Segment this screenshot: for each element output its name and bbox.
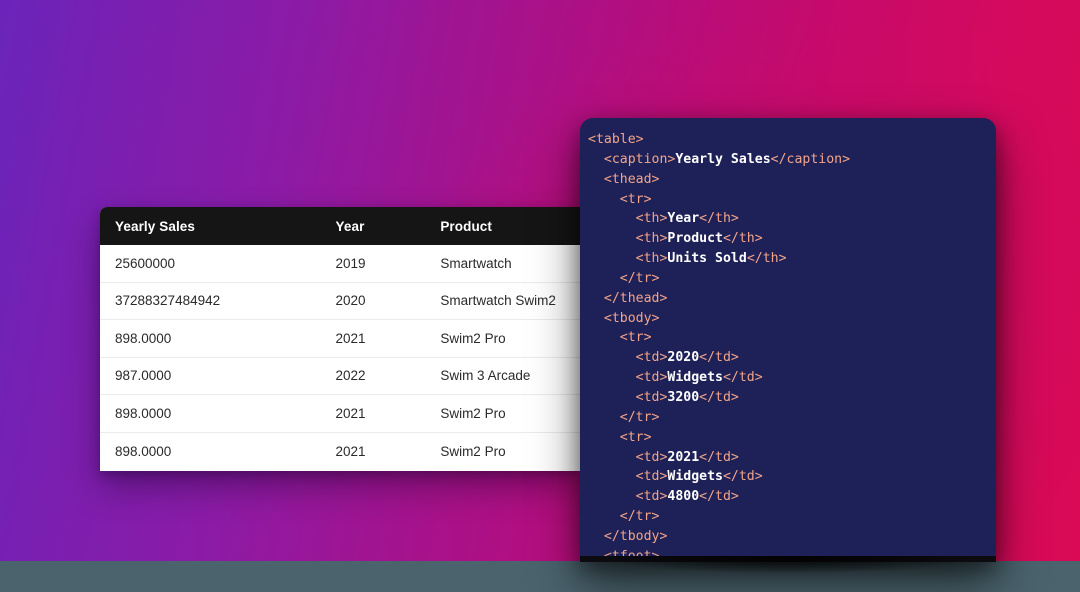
table-cell: Smartwatch Swim2 bbox=[440, 293, 580, 308]
code-tag: <td> bbox=[636, 370, 668, 385]
code-text: Units Sold bbox=[667, 251, 746, 266]
code-tag: </td> bbox=[699, 350, 739, 365]
code-tag: </td> bbox=[723, 469, 763, 484]
code-tag: </thead> bbox=[604, 291, 668, 306]
table-header-row: Yearly Sales Year Product bbox=[100, 207, 580, 245]
code-tag: <thead> bbox=[604, 172, 660, 187]
column-header-year: Year bbox=[336, 219, 441, 234]
table-cell: Swim2 Pro bbox=[440, 406, 580, 421]
code-line: </thead> bbox=[588, 289, 996, 309]
table-row[interactable]: 898.00002021Swim2 Pro bbox=[100, 433, 580, 471]
table-body: 256000002019Smartwatch372883274849422020… bbox=[100, 245, 580, 470]
table-cell: Swim2 Pro bbox=[440, 444, 580, 459]
table-cell: 2021 bbox=[336, 444, 441, 459]
code-line: <caption>Yearly Sales</caption> bbox=[588, 150, 996, 170]
table-cell: Swim2 Pro bbox=[440, 331, 580, 346]
code-line: </tbody> bbox=[588, 527, 996, 547]
code-tag: <th> bbox=[636, 211, 668, 226]
code-tag: </th> bbox=[699, 211, 739, 226]
code-tag: </tr> bbox=[620, 509, 660, 524]
code-line: <td>2021</td> bbox=[588, 448, 996, 468]
table-row[interactable]: 987.00002022Swim 3 Arcade bbox=[100, 358, 580, 396]
code-text: 2021 bbox=[667, 450, 699, 465]
data-table-card: Yearly Sales Year Product 256000002019Sm… bbox=[100, 207, 580, 471]
table-row[interactable]: 372883274849422020Smartwatch Swim2 bbox=[100, 283, 580, 321]
code-tag: <td> bbox=[636, 469, 668, 484]
code-tag: <td> bbox=[636, 350, 668, 365]
code-text: 3200 bbox=[667, 390, 699, 405]
code-line: </tr> bbox=[588, 269, 996, 289]
table-row[interactable]: 898.00002021Swim2 Pro bbox=[100, 395, 580, 433]
code-tag: </td> bbox=[723, 370, 763, 385]
table-cell: 898.0000 bbox=[100, 331, 336, 346]
table-row[interactable]: 256000002019Smartwatch bbox=[100, 245, 580, 283]
code-tag: </tr> bbox=[620, 271, 660, 286]
code-tag: </td> bbox=[699, 390, 739, 405]
column-header-product: Product bbox=[440, 219, 580, 234]
code-snippet-panel[interactable]: <table> <caption>Yearly Sales</caption> … bbox=[580, 118, 996, 561]
code-tag: </td> bbox=[699, 450, 739, 465]
column-header-yearly-sales: Yearly Sales bbox=[100, 219, 336, 234]
code-tag: <table> bbox=[588, 132, 644, 147]
table-cell: 25600000 bbox=[100, 256, 336, 271]
code-text: Yearly Sales bbox=[675, 152, 770, 167]
code-tag: <tr> bbox=[620, 330, 652, 345]
table-cell: Swim 3 Arcade bbox=[440, 368, 580, 383]
code-line: <th>Units Sold</th> bbox=[588, 249, 996, 269]
code-tag: <td> bbox=[636, 489, 668, 504]
code-tag: <th> bbox=[636, 251, 668, 266]
table-cell: Smartwatch bbox=[440, 256, 580, 271]
code-text: Product bbox=[667, 231, 723, 246]
table-cell: 898.0000 bbox=[100, 444, 336, 459]
code-line: <th>Product</th> bbox=[588, 229, 996, 249]
code-text: Year bbox=[667, 211, 699, 226]
code-line: </tr> bbox=[588, 507, 996, 527]
code-line: </tr> bbox=[588, 408, 996, 428]
code-tag: </td> bbox=[699, 489, 739, 504]
code-tag: <caption> bbox=[604, 152, 675, 167]
code-tag: </th> bbox=[723, 231, 763, 246]
table-cell: 2020 bbox=[336, 293, 441, 308]
code-tag: <tr> bbox=[620, 430, 652, 445]
code-line: <tr> bbox=[588, 190, 996, 210]
code-tag: <td> bbox=[636, 450, 668, 465]
code-line: <td>3200</td> bbox=[588, 388, 996, 408]
code-tag: </tr> bbox=[620, 410, 660, 425]
table-cell: 37288327484942 bbox=[100, 293, 336, 308]
code-line: <td>4800</td> bbox=[588, 487, 996, 507]
code-text: Widgets bbox=[667, 469, 723, 484]
table-row[interactable]: 898.00002021Swim2 Pro bbox=[100, 320, 580, 358]
table-cell: 2022 bbox=[336, 368, 441, 383]
code-tag: <td> bbox=[636, 390, 668, 405]
code-line: <tbody> bbox=[588, 309, 996, 329]
code-text: Widgets bbox=[667, 370, 723, 385]
code-tag: </caption> bbox=[771, 152, 850, 167]
table-cell: 2019 bbox=[336, 256, 441, 271]
code-tag: <tr> bbox=[620, 192, 652, 207]
code-line: <td>2020</td> bbox=[588, 348, 996, 368]
code-line: <td>Widgets</td> bbox=[588, 467, 996, 487]
code-tag: <tbody> bbox=[604, 311, 660, 326]
code-tag: </th> bbox=[747, 251, 787, 266]
table-cell: 898.0000 bbox=[100, 406, 336, 421]
code-text: 2020 bbox=[667, 350, 699, 365]
code-tag: <th> bbox=[636, 231, 668, 246]
code-tag: </tbody> bbox=[604, 529, 668, 544]
code-text: 4800 bbox=[667, 489, 699, 504]
code-line: <th>Year</th> bbox=[588, 209, 996, 229]
code-line: <tr> bbox=[588, 328, 996, 348]
bottom-bar bbox=[0, 561, 1080, 592]
code-line: <td>Widgets</td> bbox=[588, 368, 996, 388]
table-cell: 987.0000 bbox=[100, 368, 336, 383]
table-cell: 2021 bbox=[336, 331, 441, 346]
code-line: <table> bbox=[588, 130, 996, 150]
table-cell: 2021 bbox=[336, 406, 441, 421]
code-panel-bottom-edge bbox=[580, 556, 996, 562]
code-line: <tr> bbox=[588, 428, 996, 448]
code-lines: <table> <caption>Yearly Sales</caption> … bbox=[580, 118, 996, 561]
screenshot-stage: Yearly Sales Year Product 256000002019Sm… bbox=[0, 0, 1080, 592]
code-line: <thead> bbox=[588, 170, 996, 190]
